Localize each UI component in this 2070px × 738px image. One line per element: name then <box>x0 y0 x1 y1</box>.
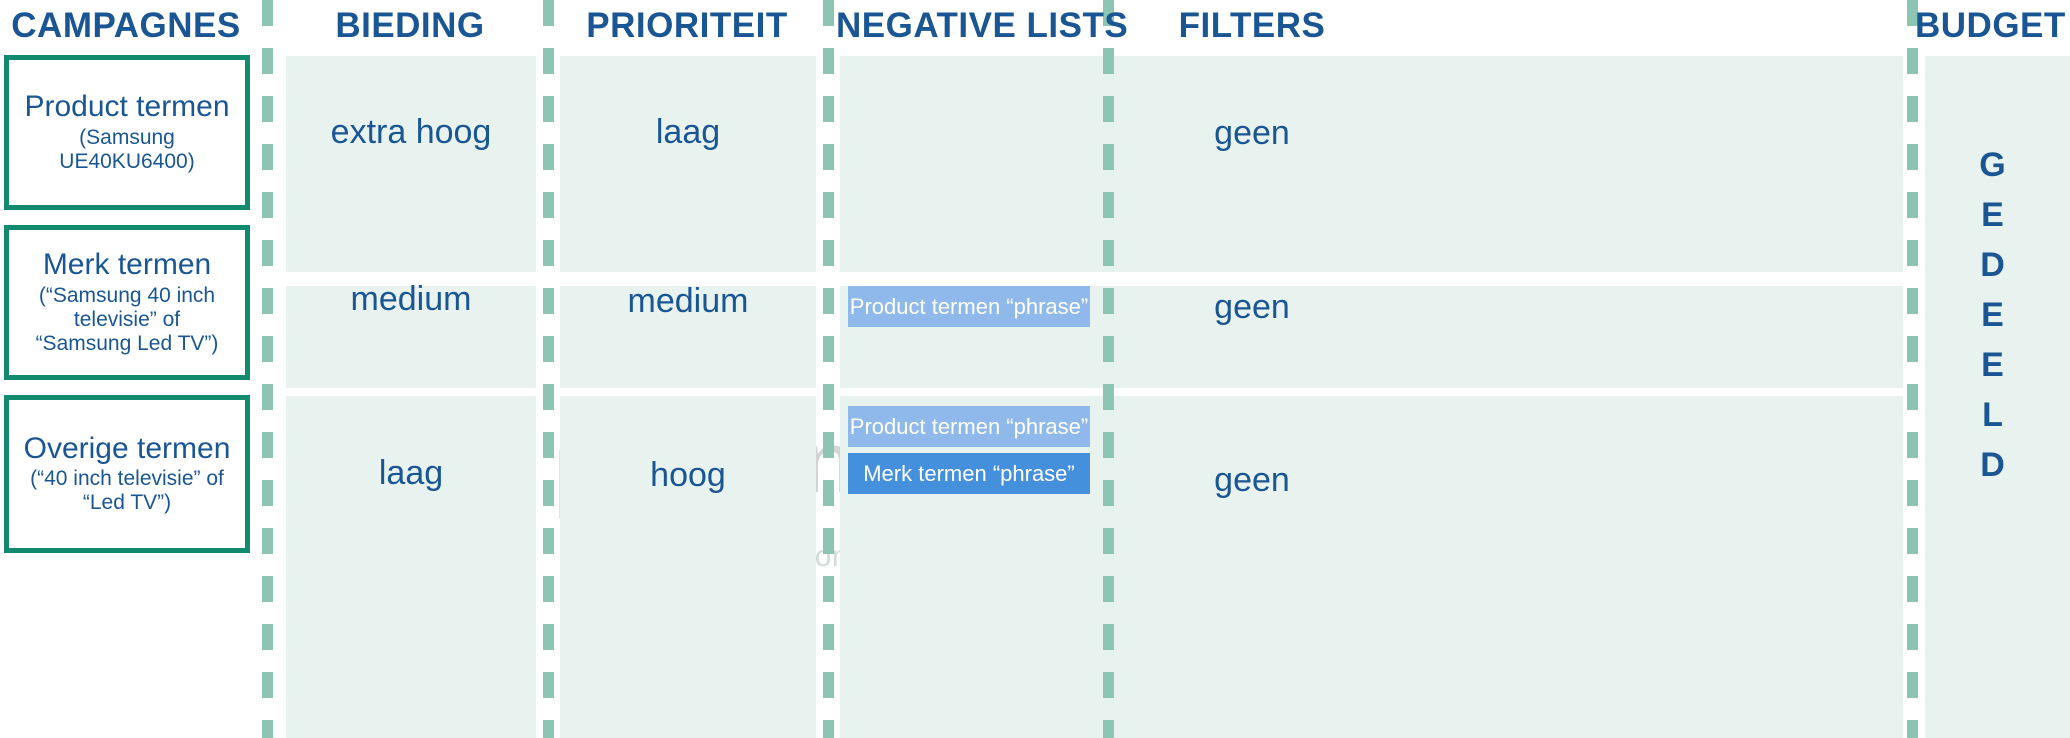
bieding-value-row-2: medium <box>286 280 536 319</box>
divider-prioriteit-negative-lists <box>823 0 834 738</box>
column-header-filters: FILTERS <box>1112 4 1392 48</box>
bieding-value-row-1: extra hoog <box>286 113 536 152</box>
column-header-campagnes: CAMPAGNES <box>0 4 252 48</box>
campaign-box-overige-termen[interactable]: Overige termen (“40 inch televisie” of “… <box>4 395 250 553</box>
filters-value-row-3: geen <box>1112 461 1392 500</box>
divider-negative-lists-filters <box>1103 0 1114 738</box>
filters-value-row-2: geen <box>1112 288 1392 327</box>
prioriteit-value-row-1: laag <box>560 113 816 152</box>
column-header-bieding: BIEDING <box>280 4 540 48</box>
campaign-subtitle: (Samsung UE40KU6400) <box>9 126 245 174</box>
negative-list-badge-row-2-1[interactable]: Product termen “phrase” <box>848 286 1090 327</box>
prioriteit-value-row-2: medium <box>560 282 816 321</box>
campaign-subtitle: (“40 inch televisie” of “Led TV”) <box>9 467 245 515</box>
band-prioriteit-row-3 <box>560 396 816 738</box>
filters-value-row-1: geen <box>1112 114 1392 153</box>
negative-list-badge-row-3-2[interactable]: Merk termen “phrase” <box>848 453 1090 494</box>
campaign-title: Product termen <box>20 91 233 123</box>
column-header-negative-lists: NEGATIVE LISTS <box>836 4 1098 48</box>
band-negative-lists-row-1 <box>840 56 1093 272</box>
campaign-subtitle: (“Samsung 40 inch televisie” of “Samsung… <box>19 284 235 356</box>
campaign-box-product-termen[interactable]: Product termen (Samsung UE40KU6400) <box>4 55 250 210</box>
band-bieding-row-1 <box>286 56 536 272</box>
campaign-structure-diagram: omnia retail. automated. optimized. CAMP… <box>0 0 2070 738</box>
column-header-prioriteit: PRIORITEIT <box>556 4 818 48</box>
negative-list-badge-row-3-1[interactable]: Product termen “phrase” <box>848 406 1090 447</box>
campaign-title: Merk termen <box>39 249 215 281</box>
budget-letter: E <box>1925 290 2060 340</box>
budget-letter: E <box>1925 190 2060 240</box>
divider-filters-budget <box>1907 0 1918 738</box>
bieding-value-row-3: laag <box>286 454 536 493</box>
band-filters-row-1 <box>1093 56 1903 272</box>
budget-letter: D <box>1925 440 2060 490</box>
divider-bieding-prioriteit <box>543 0 554 738</box>
band-bieding-row-3 <box>286 396 536 738</box>
budget-value-gedeeld: G E D E E L D <box>1925 140 2060 490</box>
campaign-box-merk-termen[interactable]: Merk termen (“Samsung 40 inch televisie”… <box>4 225 250 380</box>
budget-letter: D <box>1925 240 2060 290</box>
band-negative-lists-row-3 <box>840 396 1093 738</box>
column-header-budget: BUDGET <box>1915 4 2070 48</box>
band-prioriteit-row-1 <box>560 56 816 272</box>
divider-campagnes-bieding <box>262 0 273 738</box>
prioriteit-value-row-3: hoog <box>560 456 816 495</box>
budget-letter: L <box>1925 390 2060 440</box>
budget-letter: G <box>1925 140 2060 190</box>
budget-letter: E <box>1925 340 2060 390</box>
band-filters-row-3 <box>1093 396 1903 738</box>
campaign-title: Overige termen <box>20 433 235 465</box>
